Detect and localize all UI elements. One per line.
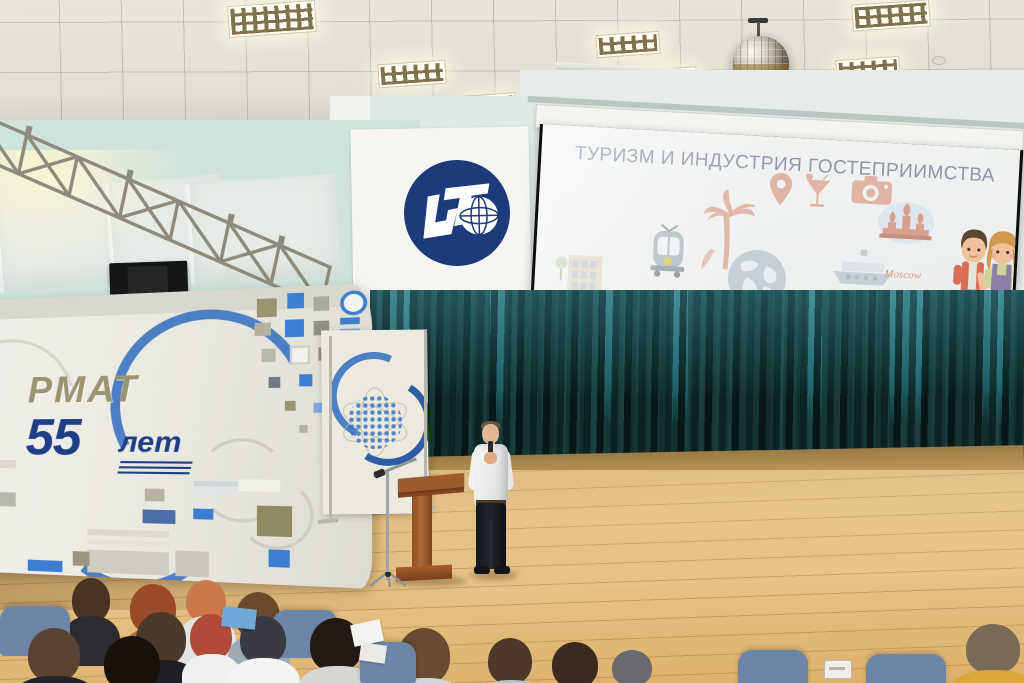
seat <box>738 650 808 683</box>
deco-square <box>290 345 310 364</box>
mic-stand-pole <box>386 470 389 580</box>
deco-square <box>257 298 277 317</box>
moscow-text: Moscow <box>884 268 921 282</box>
speaker-trouser-seam <box>490 520 492 569</box>
deco-square <box>314 296 330 311</box>
deco-square <box>285 319 304 337</box>
handout-leaflet <box>221 606 257 629</box>
deco-square <box>143 510 176 525</box>
it-logo-glyph <box>403 159 511 267</box>
pmat-underline-lines <box>117 461 192 474</box>
pmat-anniversary-word: лет <box>119 425 182 459</box>
audience <box>0 566 1024 683</box>
ceiling-light-6 <box>851 0 931 32</box>
deco-square <box>299 374 312 386</box>
podium-column <box>412 492 432 570</box>
rollup-dot-grid <box>348 395 403 450</box>
pmat-anniversary-number: 55 <box>26 407 81 467</box>
deco-square <box>0 492 16 506</box>
deco-square <box>340 317 360 324</box>
deco-square <box>262 349 276 362</box>
saint-basil-cathedral-icon <box>876 197 937 259</box>
conference-hall-photo: ТУРИЗМ И ИНДУСТРИЯ ГОСТЕПРИИМСТВА HOTEL <box>0 0 1024 683</box>
deco-square <box>287 293 304 309</box>
deco-square <box>193 509 213 520</box>
rollup-leg-left <box>329 336 332 522</box>
deco-square <box>73 551 90 566</box>
ceiling-light-1 <box>227 0 317 38</box>
pmat-brand-text: РМАТ <box>28 367 139 412</box>
deco-square <box>285 401 296 411</box>
deco-square <box>269 377 281 388</box>
handout-leaflet <box>359 642 387 663</box>
smoke-detector-icon <box>932 56 946 65</box>
deco-square <box>257 506 292 537</box>
deco-square <box>299 425 307 433</box>
deco-square <box>193 489 241 495</box>
deco-square <box>255 322 271 336</box>
moscow-label: Moscow <box>884 264 922 284</box>
speaker-hands <box>484 452 497 464</box>
deco-square <box>340 290 367 316</box>
deco-square <box>193 481 241 487</box>
deco-square <box>269 549 290 567</box>
deco-square <box>238 479 280 492</box>
ceiling-light-2 <box>377 60 447 89</box>
deco-square <box>145 489 165 502</box>
pmat-anniversary-banner: РМАТ 55 лет <box>0 283 372 589</box>
seat <box>866 654 946 683</box>
ceiling-light-4 <box>595 31 660 58</box>
deco-square <box>0 460 16 468</box>
